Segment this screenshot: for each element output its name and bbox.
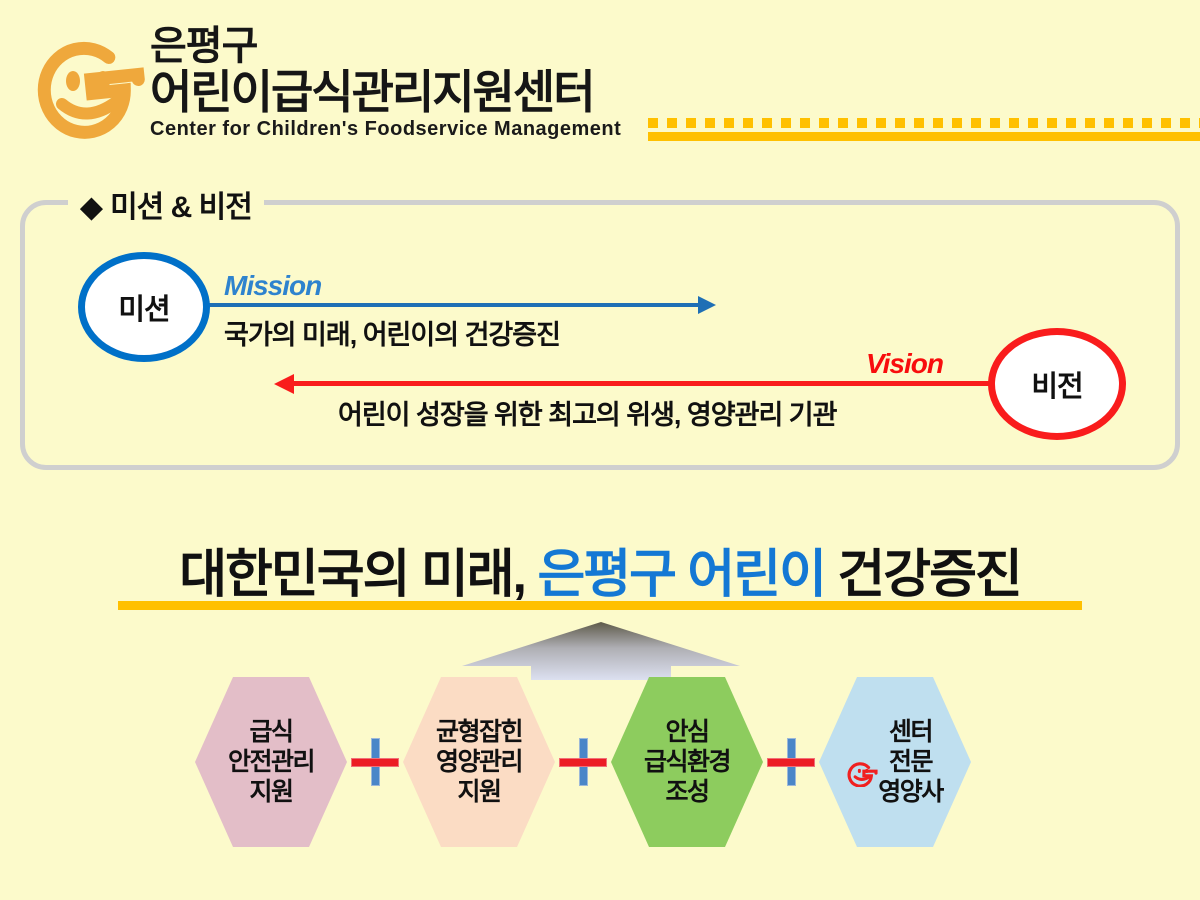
org-name-center: 어린이급식관리지원센터 xyxy=(150,68,670,116)
mission-arrow-line xyxy=(206,303,702,307)
pillars-row: 급식 안전관리 지원 균형잡힌 영양관리 지원 안심 급식환경 조성 xyxy=(195,672,1015,852)
mission-arrow-head-icon xyxy=(698,296,716,314)
pillar-label-2: 균형잡힌 영양관리 지원 xyxy=(436,717,522,807)
plus-separator-3 xyxy=(763,734,819,790)
mission-vision-panel-title: ◆미션 & 비전 xyxy=(68,182,264,226)
vision-arrow-head-icon xyxy=(274,374,294,394)
plus-separator-2 xyxy=(555,734,611,790)
pillar-label-4-text: 센터 전문 영양사 xyxy=(878,717,943,807)
plus-horizontal-bar xyxy=(767,758,815,767)
pillar-hexagon-1[interactable]: 급식 안전관리 지원 xyxy=(195,677,347,847)
vision-arrow-line xyxy=(292,381,994,386)
logo-wordmark: 은평구 어린이급식관리지원센터 Center for Children's Fo… xyxy=(150,26,670,141)
mission-node: 미션 xyxy=(78,252,210,362)
poster-canvas: 은평구 어린이급식관리지원센터 Center for Children's Fo… xyxy=(0,0,1200,900)
plus-horizontal-bar xyxy=(351,758,399,767)
vision-description: 어린이 성장을 위한 최고의 위생, 영양관리 기관 xyxy=(338,393,836,432)
smiley-g-logo-red-icon xyxy=(847,731,879,794)
up-arrow-icon xyxy=(462,618,740,680)
plus-separator-1 xyxy=(347,734,403,790)
header-dotted-rule xyxy=(648,118,1200,128)
mission-tag-label: Mission xyxy=(224,270,321,302)
headline: 대한민국의 미래, 은평구 어린이 건강증진 xyxy=(0,532,1200,607)
headline-underline xyxy=(118,601,1082,610)
mission-vision-title-text: 미션 & 비전 xyxy=(110,191,252,224)
headline-part2: 건강증진 xyxy=(825,546,1021,604)
diamond-bullet-icon: ◆ xyxy=(81,191,102,224)
header: 은평구 어린이급식관리지원센터 Center for Children's Fo… xyxy=(0,0,1200,175)
header-solid-rule xyxy=(648,132,1200,141)
headline-part1: 대한민국의 미래, xyxy=(179,546,537,604)
vision-tag-label: Vision xyxy=(866,348,943,380)
pillar-hexagon-3[interactable]: 안심 급식환경 조성 xyxy=(611,677,763,847)
pillar-hexagon-4[interactable]: 센터 전문 영양사 xyxy=(819,677,971,847)
plus-horizontal-bar xyxy=(559,758,607,767)
vision-node: 비전 xyxy=(988,328,1126,440)
org-name-english: Center for Children's Foodservice Manage… xyxy=(150,118,670,141)
headline-accent: 은평구 어린이 xyxy=(537,546,825,604)
pillar-label-4: 센터 전문 영양사 xyxy=(847,717,943,807)
pillar-label-3: 안심 급식환경 조성 xyxy=(644,717,730,807)
org-name-district: 은평구 xyxy=(150,26,670,66)
pillar-label-1: 급식 안전관리 지원 xyxy=(228,717,314,807)
mission-description: 국가의 미래, 어린이의 건강증진 xyxy=(224,313,560,352)
pillar-hexagon-2[interactable]: 균형잡힌 영양관리 지원 xyxy=(403,677,555,847)
smiley-g-logo-icon xyxy=(26,28,146,150)
